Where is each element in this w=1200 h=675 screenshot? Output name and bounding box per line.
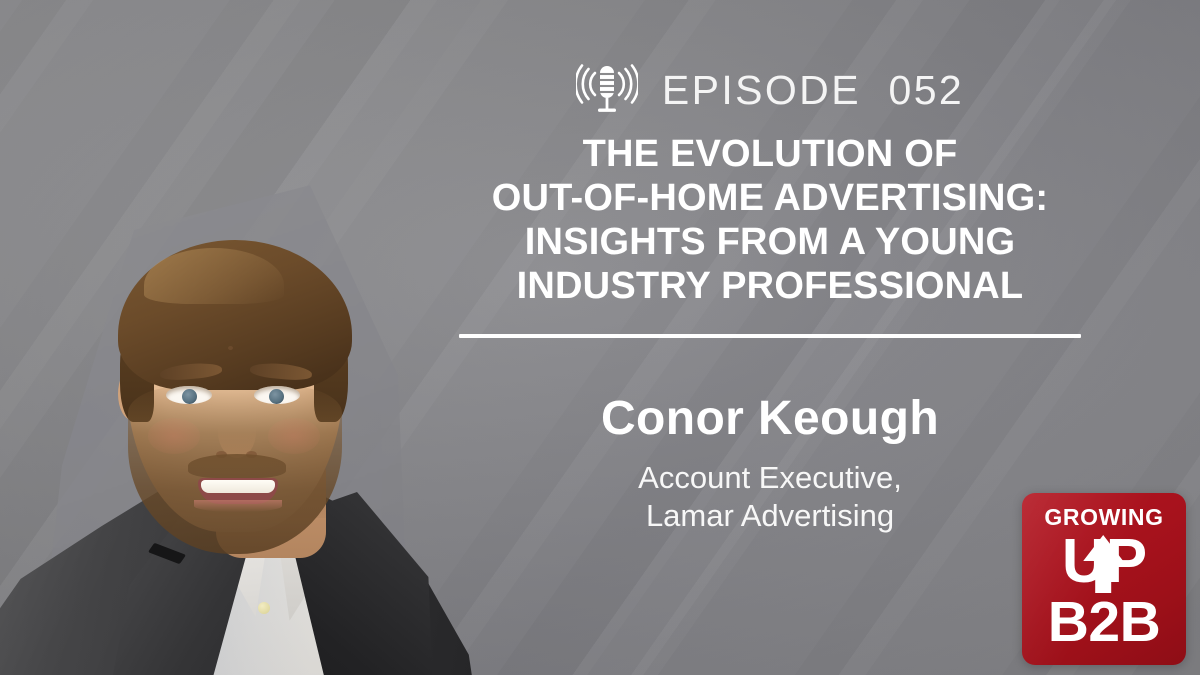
up-arrow-icon [1083,535,1123,593]
guest-role-line-1: Account Executive, [440,459,1100,497]
guest-name: Conor Keough [440,394,1100,444]
shirt-button [258,602,270,614]
mustache [188,454,286,478]
episode-content: EPISODE 052 THE EVOLUTION OF OUT-OF-HOME… [440,0,1100,675]
guest-photo [0,118,512,675]
logo-b2b-text: B2B [1022,594,1186,651]
podcast-microphone-icon [576,62,638,118]
episode-cover-canvas: EPISODE 052 THE EVOLUTION OF OUT-OF-HOME… [0,0,1200,675]
cheek-right [268,418,320,454]
episode-title: THE EVOLUTION OF OUT-OF-HOME ADVERTISING… [440,132,1100,308]
forehead-mole [228,346,233,350]
guest-role-line-2: Lamar Advertising [440,497,1100,535]
cheek-left [148,418,200,454]
episode-title-line-3: INSIGHTS FROM A YOUNG [440,220,1100,264]
lower-lip [194,500,282,512]
episode-title-line-4: INDUSTRY PROFESSIONAL [440,264,1100,308]
episode-number-label: EPISODE 052 [662,70,964,111]
iris-right [269,389,284,404]
title-divider [459,334,1081,338]
teeth [201,480,275,493]
growing-up-b2b-logo[interactable]: GROWING UP B2B [1022,493,1186,665]
logo-up-row: UP [1022,531,1186,597]
guest-role: Account Executive, Lamar Advertising [440,459,1100,535]
episode-title-line-2: OUT-OF-HOME ADVERTISING: [440,176,1100,220]
episode-title-line-1: THE EVOLUTION OF [440,132,1100,176]
episode-header-row: EPISODE 052 [440,62,1100,118]
iris-left [182,389,197,404]
logo-growing-text: GROWING [1022,506,1186,529]
